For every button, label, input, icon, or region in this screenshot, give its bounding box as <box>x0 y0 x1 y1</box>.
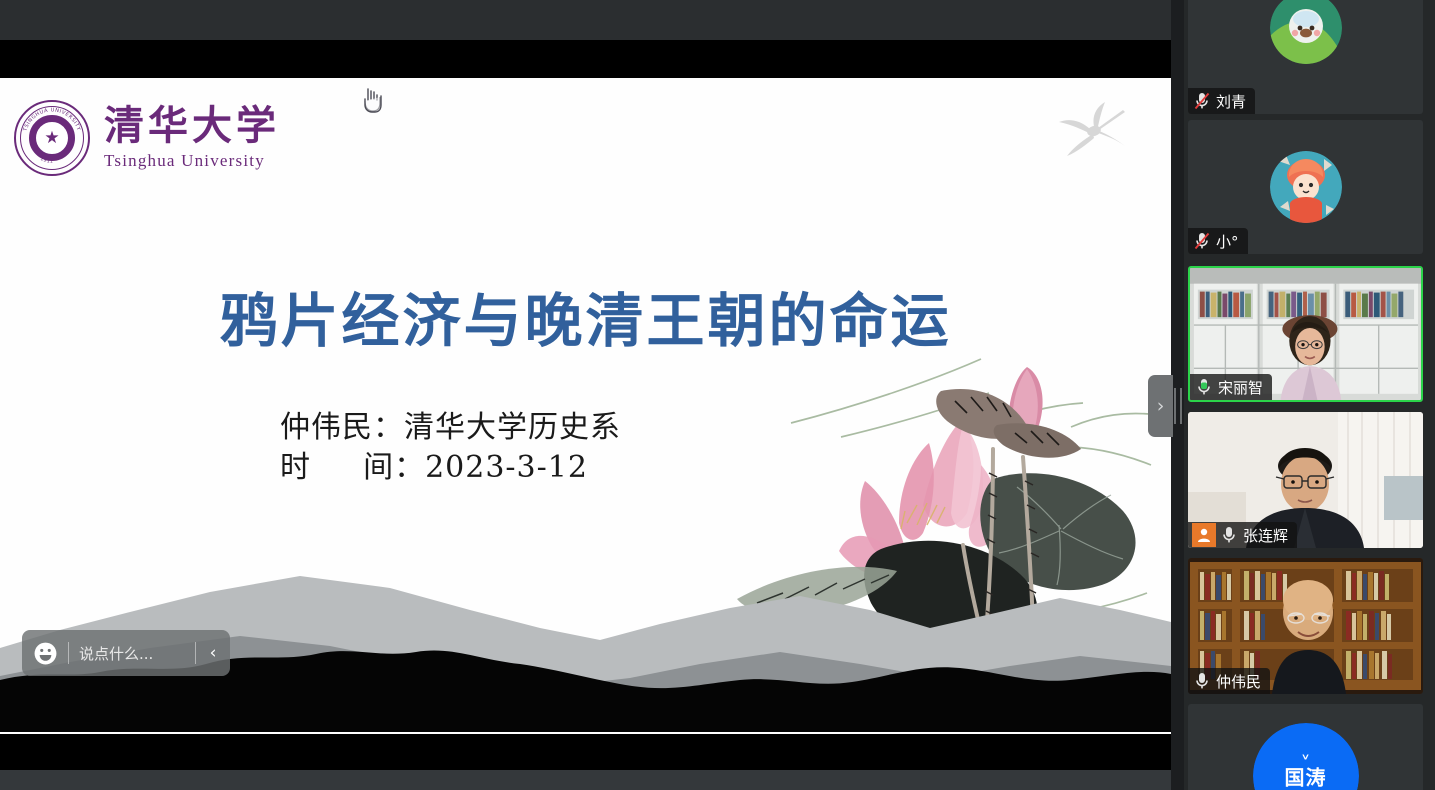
seal-star-icon: ★ <box>44 130 59 147</box>
panel-expand-toggle[interactable]: › <box>1148 375 1173 437</box>
mic-muted-icon <box>1192 230 1212 252</box>
chat-placeholder[interactable]: 说点什么... <box>69 643 195 664</box>
stage-top-bar <box>0 0 1171 40</box>
slide-subtitle-line-2: 时 间：2023-3-12 <box>280 448 621 488</box>
emoji-smile-icon[interactable] <box>22 641 68 666</box>
mic-active-icon <box>1192 670 1212 692</box>
chevron-left-icon[interactable]: ‹ <box>196 643 230 663</box>
participant-tile-zhongweimin[interactable]: 仲伟民 <box>1188 558 1423 694</box>
tsinghua-logo: TSINGHUA UNIVERSITY 1911 ★ 清华大学 Tsinghua… <box>14 100 280 176</box>
chevron-down-icon[interactable]: ˅ <box>1301 752 1311 776</box>
slide-title: 鸦片经济与晚清王朝的命运 <box>0 274 1171 358</box>
participant-name: 小° <box>1216 231 1239 252</box>
svg-text:1911: 1911 <box>39 156 53 165</box>
participant-name: 仲伟民 <box>1216 671 1261 692</box>
university-name-cn: 清华大学 <box>104 106 280 146</box>
avatar <box>1270 151 1342 223</box>
mic-active-icon <box>1194 376 1214 398</box>
participant-tile-liuqing[interactable]: 刘青 <box>1188 0 1423 114</box>
slide-subtitle: 仲伟民：清华大学历史系 时 间：2023-3-12 <box>280 408 621 487</box>
dragonfly-ink-icon <box>1051 100 1143 162</box>
letterbox-bottom <box>0 734 1171 770</box>
chat-input-bar[interactable]: 说点什么... ‹ <box>22 630 230 676</box>
participant-name: 宋丽智 <box>1218 377 1263 398</box>
slide-subtitle-line-1: 仲伟民：清华大学历史系 <box>280 408 621 448</box>
host-badge-icon <box>1192 523 1216 547</box>
participant-tile-guotao[interactable]: 国涛 ˅ <box>1188 704 1423 790</box>
participant-tile-songlizhi[interactable]: 宋丽智 <box>1188 266 1423 402</box>
chevron-right-icon: › <box>1157 395 1165 417</box>
name-strip: 宋丽智 <box>1190 374 1272 400</box>
video-conference-window: TSINGHUA UNIVERSITY 1911 ★ 清华大学 Tsinghua… <box>0 0 1435 790</box>
letterbox-top <box>0 40 1171 78</box>
mic-muted-icon <box>1192 90 1212 112</box>
pointing-hand-cursor <box>361 87 383 113</box>
mic-active-icon <box>1219 524 1239 546</box>
tsinghua-seal-icon: TSINGHUA UNIVERSITY 1911 ★ <box>14 100 90 176</box>
participant-name: 刘青 <box>1216 91 1246 112</box>
participant-panel[interactable]: 刘青 <box>1184 0 1435 790</box>
presentation-slide: TSINGHUA UNIVERSITY 1911 ★ 清华大学 Tsinghua… <box>0 78 1171 732</box>
panel-drag-handle[interactable] <box>1174 388 1182 424</box>
name-strip: 仲伟民 <box>1188 668 1270 694</box>
stage-bottom-bar <box>0 770 1171 790</box>
name-strip: 张连辉 <box>1188 522 1297 548</box>
avatar <box>1270 0 1342 64</box>
name-strip: 刘青 <box>1188 88 1255 114</box>
participant-tile-zhanglianhui[interactable]: 张连辉 <box>1188 412 1423 548</box>
participant-name: 张连辉 <box>1243 525 1288 546</box>
shared-screen-stage[interactable]: TSINGHUA UNIVERSITY 1911 ★ 清华大学 Tsinghua… <box>0 0 1171 790</box>
participant-tile-xiao[interactable]: 小° <box>1188 120 1423 254</box>
university-name-en: Tsinghua University <box>104 151 280 171</box>
name-strip: 小° <box>1188 228 1248 254</box>
